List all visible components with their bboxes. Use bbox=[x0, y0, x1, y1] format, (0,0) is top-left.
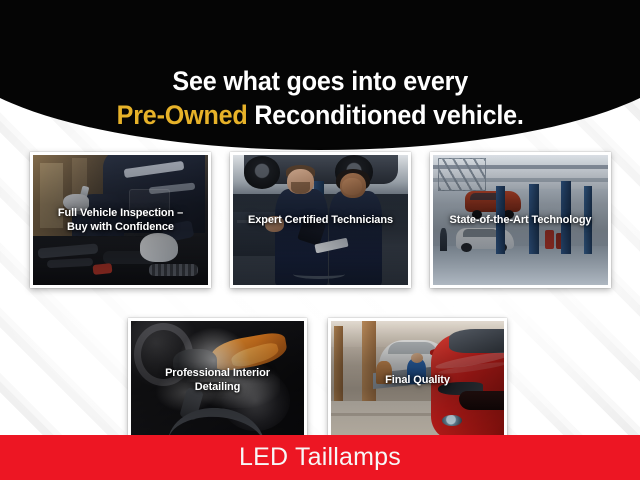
card-photo: Final Quality bbox=[331, 321, 504, 438]
card-caption: Professional Interior Detailing bbox=[135, 366, 300, 394]
headline-line-2: Pre-Owned Reconditioned vehicle. bbox=[0, 98, 640, 132]
card-caption: Full Vehicle Inspection – Buy with Confi… bbox=[37, 206, 204, 234]
feature-card-expert-certified-technicians[interactable]: Expert Certified Technicians bbox=[230, 152, 411, 288]
bottom-banner: LED Taillamps bbox=[0, 435, 640, 480]
feature-card-final-quality[interactable]: Final Quality bbox=[328, 318, 507, 441]
headline-line-2-rest: Reconditioned vehicle. bbox=[247, 100, 523, 130]
card-photo: State-of-the-Art Technology bbox=[433, 155, 608, 285]
headline-highlight: Pre-Owned bbox=[116, 100, 247, 130]
card-photo: Full Vehicle Inspection – Buy with Confi… bbox=[33, 155, 208, 285]
header-text-block: See what goes into every Pre-Owned Recon… bbox=[0, 64, 640, 132]
card-photo: Expert Certified Technicians bbox=[233, 155, 408, 285]
feature-card-professional-interior-detailing[interactable]: Professional Interior Detailing bbox=[128, 318, 307, 441]
card-caption: State-of-the-Art Technology bbox=[437, 213, 604, 227]
feature-card-full-vehicle-inspection[interactable]: Full Vehicle Inspection – Buy with Confi… bbox=[30, 152, 211, 288]
card-caption: Expert Certified Technicians bbox=[237, 213, 404, 227]
promo-graphic: See what goes into every Pre-Owned Recon… bbox=[0, 0, 640, 480]
feature-card-state-of-the-art-technology[interactable]: State-of-the-Art Technology bbox=[430, 152, 611, 288]
header-banner: See what goes into every Pre-Owned Recon… bbox=[0, 0, 640, 150]
headline-line-1: See what goes into every bbox=[0, 64, 640, 98]
bottom-banner-label: LED Taillamps bbox=[239, 443, 401, 472]
card-photo: Professional Interior Detailing bbox=[131, 321, 304, 438]
card-caption: Final Quality bbox=[335, 373, 500, 387]
